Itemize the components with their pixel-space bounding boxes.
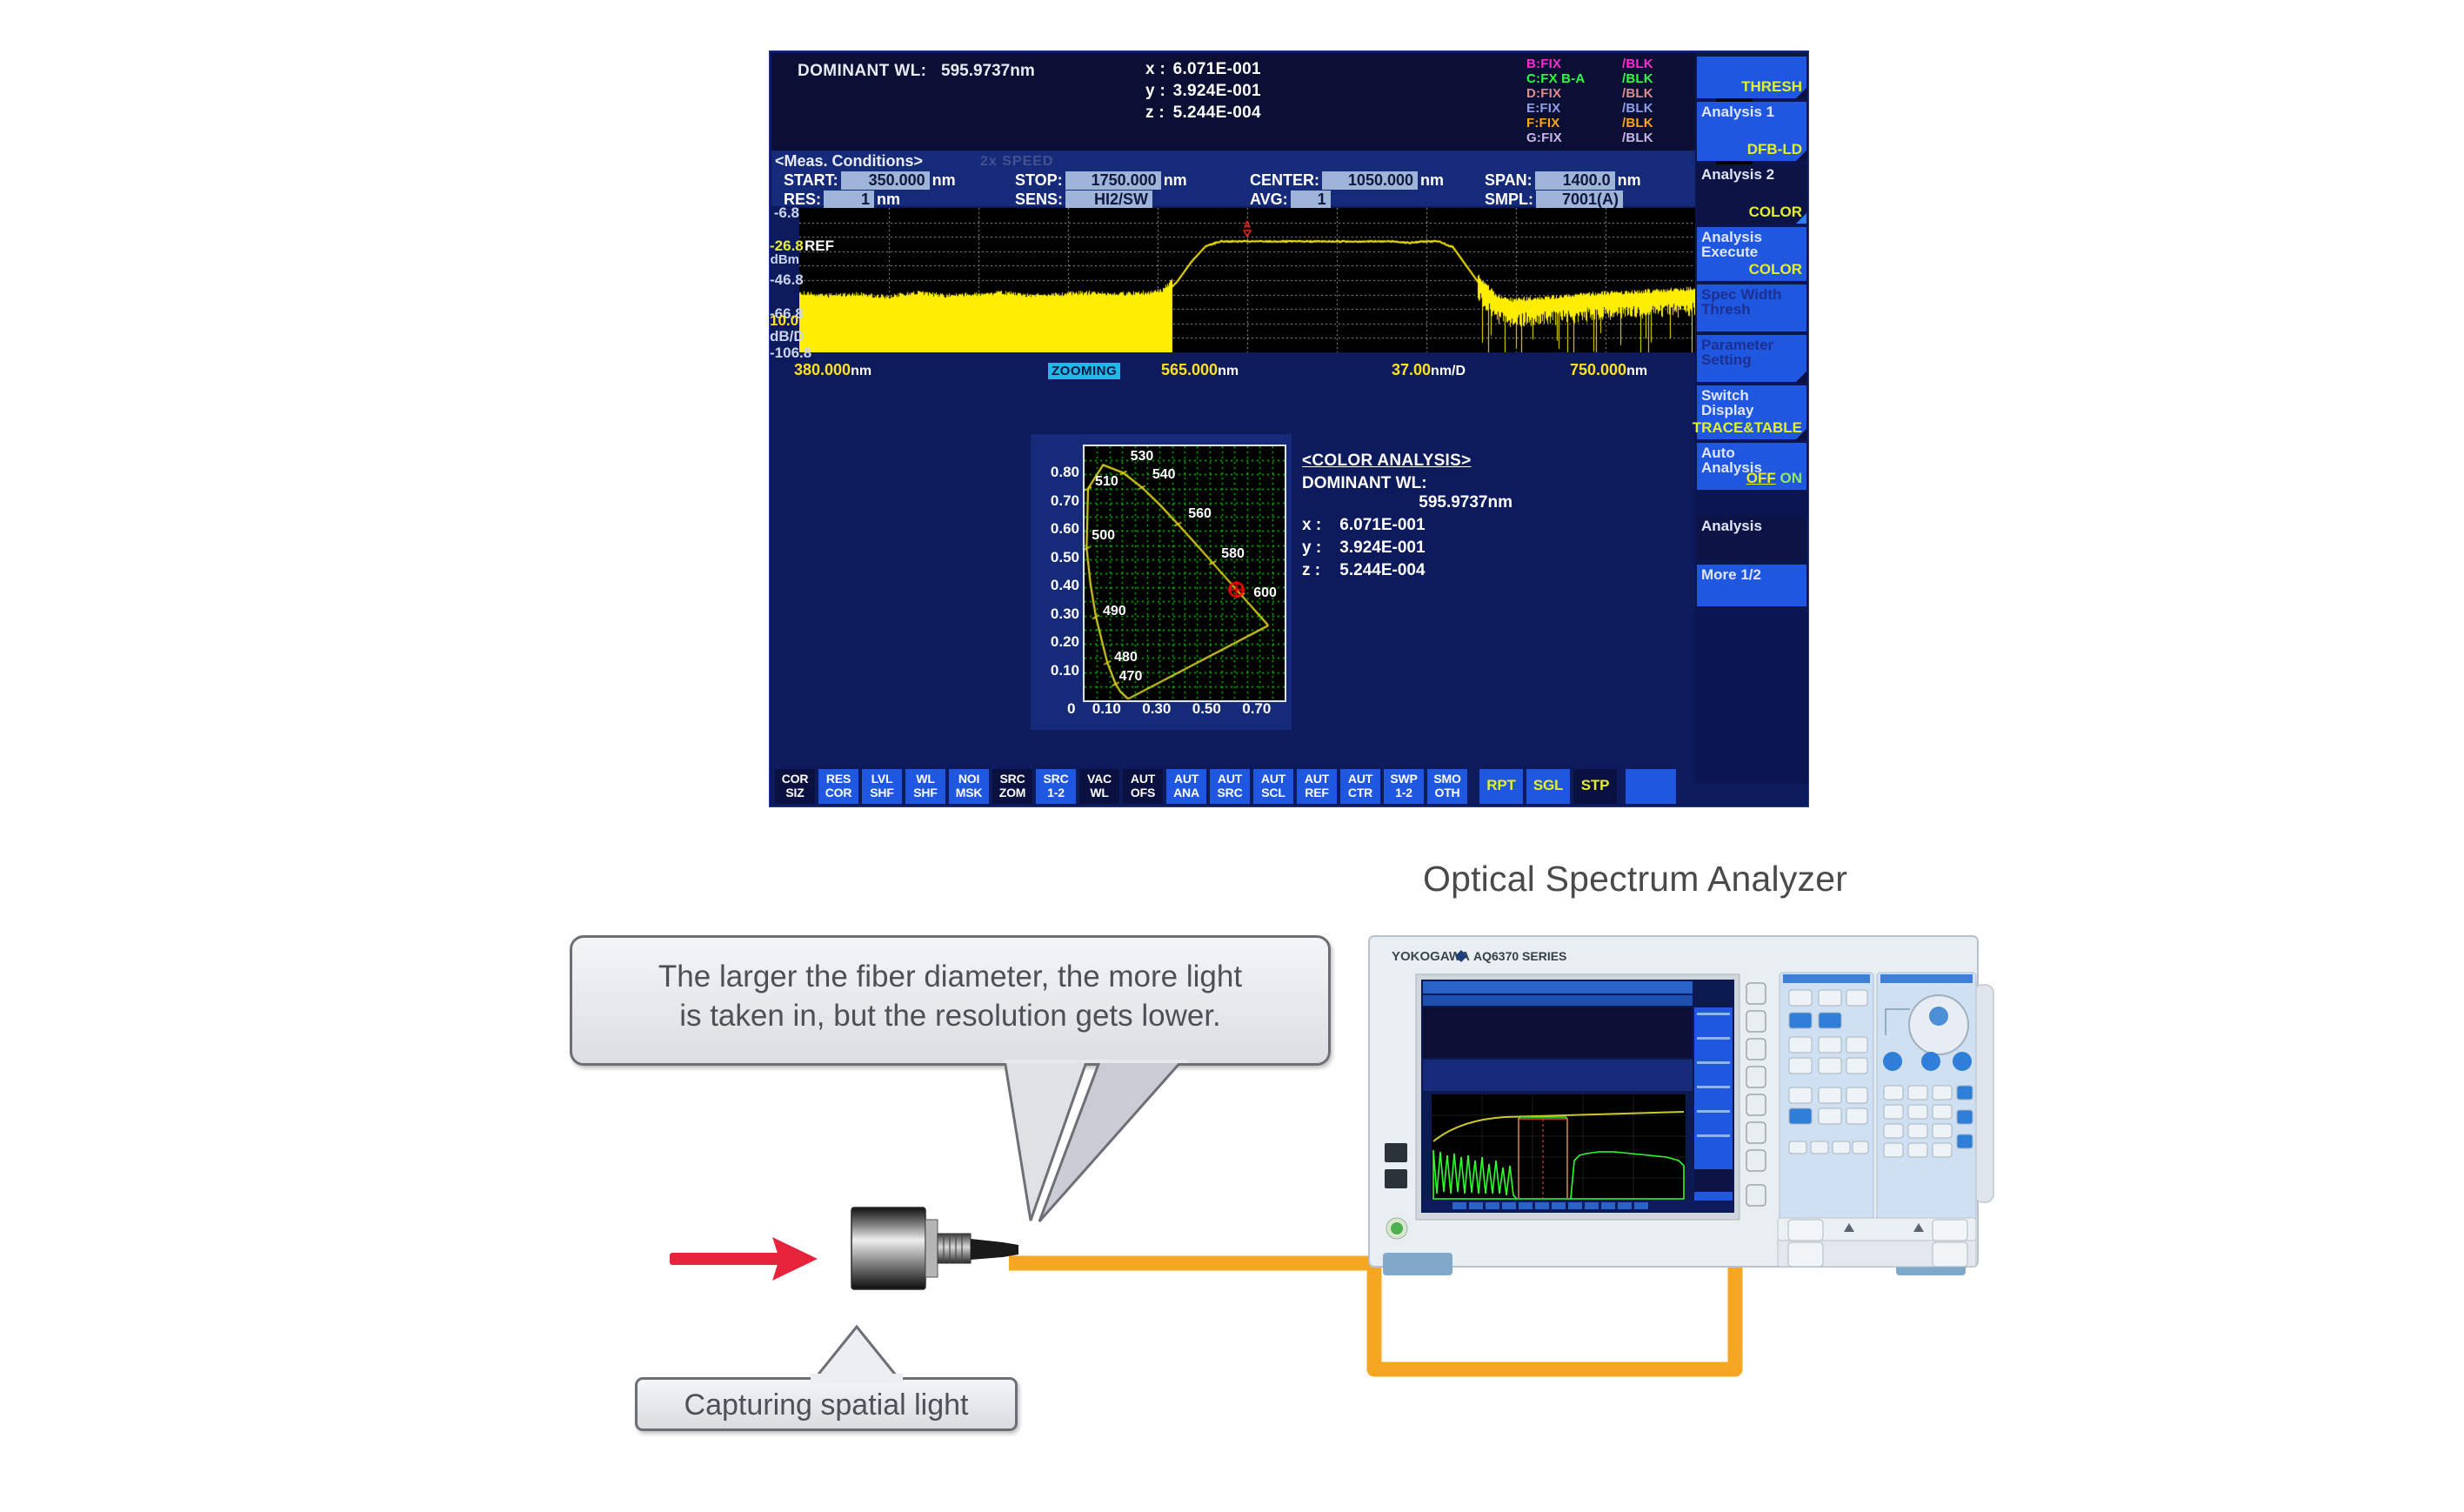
chromaticity-x-row: x : 6.071E-001 (1145, 60, 1261, 79)
callout-line-1: The larger the fiber diameter, the more … (572, 957, 1328, 996)
dominant-wl-value: 595.9737nm (941, 62, 1035, 81)
chromaticity-x-label: x : (1145, 60, 1168, 79)
cie-x-tick: 0.50 (1192, 700, 1221, 718)
status-key-aut-src[interactable]: AUTSRC (1210, 769, 1252, 804)
status-key-line-2: SIZ (775, 786, 815, 799)
softkey-1[interactable]: THRESH (1697, 57, 1806, 98)
status-key-line-1: SWP (1384, 773, 1424, 785)
status-key-aut-ref[interactable]: AUTREF (1297, 769, 1339, 804)
graph-x-unit: nm (851, 364, 871, 378)
cie-wavelength-label: 600 (1253, 585, 1277, 601)
chromaticity-y-row: y : 3.924E-001 (1145, 82, 1261, 101)
meas-field-value[interactable]: 1 (824, 191, 874, 209)
trace-legend-blank: /BLK (1622, 57, 1653, 71)
trace-legend-blank: /BLK (1622, 101, 1653, 116)
status-key-aut-ana[interactable]: AUTANA (1166, 769, 1208, 804)
status-key-line-1: WL (905, 773, 945, 785)
status-key-line-2: COR (818, 786, 858, 799)
status-key-line-2: SRC (1210, 786, 1250, 799)
status-key-cor-siz[interactable]: CORSIZ (775, 769, 817, 804)
ca-y-label: y : (1302, 539, 1335, 558)
status-key-line-1: STP (1573, 779, 1617, 792)
softkey-corner-icon (1796, 429, 1806, 439)
status-key-line-2: ANA (1166, 786, 1206, 799)
meas-field-unit: nm (1164, 171, 1187, 189)
softkey-label-line: Analysis (1701, 518, 1762, 533)
status-key-line-1: SRC (1036, 773, 1076, 785)
graph-x-label: 380.000nm (794, 361, 871, 379)
softkey-label: Analysis 2 (1701, 167, 1774, 182)
status-key-line-1: AUT (1166, 773, 1206, 785)
status-key-src-1-2[interactable]: SRC1-2 (1036, 769, 1078, 804)
ca-x-row: x : 6.071E-001 (1302, 516, 1528, 535)
softkey-label: Analysis (1701, 518, 1762, 533)
softkey-label-line: Thresh (1701, 302, 1781, 317)
status-bar-spacer (1626, 769, 1678, 804)
trace-legend-name: B:FIX (1526, 57, 1561, 71)
status-key-stp[interactable]: STP (1573, 769, 1619, 804)
callout-bubble: The larger the fiber diameter, the more … (570, 935, 1331, 1066)
cie-y-tick: 0.50 (1031, 549, 1079, 566)
softkey-menu[interactable]: THRESHAnalysis 1DFB-LDAnalysis 2COLORAna… (1695, 53, 1808, 784)
meas-field[interactable]: START:350.000nm (784, 171, 956, 190)
graph-x-unit: nm (1626, 364, 1647, 378)
status-key-line-1: LVL (862, 773, 902, 785)
softkey-corner-icon (1796, 213, 1806, 224)
softkey-label-line: Analysis 1 (1701, 104, 1774, 119)
softkey-label-line: Spec Width (1701, 287, 1781, 302)
meas-field-label: START: (784, 171, 838, 189)
softkey-label-line: Setting (1701, 352, 1773, 367)
ca-z-row: z : 5.244E-004 (1302, 561, 1528, 580)
cie-wavelength-label: 480 (1114, 650, 1138, 666)
graph-x-label: 750.000nm (1570, 361, 1647, 379)
instrument-model-text: AQ6370 SERIES (1473, 949, 1566, 963)
trace-legend-name: D:FIX (1526, 86, 1561, 101)
optical-spectrum-analyzer-photo: YOKOGAWA AQ6370 SERIES (1366, 933, 2009, 1281)
cie-wavelength-label: 470 (1119, 669, 1143, 685)
softkey-label: SwitchDisplay (1701, 388, 1753, 418)
page-title: Optical Spectrum Analyzer (1423, 859, 1980, 900)
softkey-6[interactable]: ParameterSetting (1697, 335, 1806, 382)
status-key-line-1: SRC (992, 773, 1032, 785)
graph-x-label: 37.00nm/D (1392, 361, 1466, 379)
status-key-line-2: SHF (905, 786, 945, 799)
cie-wavelength-label: 530 (1131, 449, 1154, 465)
measurement-conditions-panel: <Meas. Conditions> 2x SPEED START:350.00… (771, 151, 1695, 206)
cie-y-tick: 0.30 (1031, 605, 1079, 623)
meas-field[interactable]: STOP:1750.000nm (1015, 171, 1187, 190)
status-key-line-2: WL (1079, 786, 1119, 799)
capture-label: Capturing spatial light (635, 1377, 1018, 1431)
status-key-line-1: AUT (1340, 773, 1380, 785)
cie-x-tick: 0.70 (1242, 700, 1271, 718)
trace-legend-row: C:FX B-A/BLK (1526, 71, 1692, 84)
osa-screen: DOMINANT WL: 595.9737nm x : 6.071E-001 y… (769, 50, 1809, 807)
status-key-smo-oth[interactable]: SMOOTH (1427, 769, 1469, 804)
softkey-value: DFB-LD (1747, 141, 1802, 158)
softkey-value-on[interactable]: ON (1780, 470, 1803, 486)
meas-field-label: AVG: (1250, 191, 1288, 208)
status-key-src-zom[interactable]: SRCZOM (992, 769, 1034, 804)
status-key-line-1: AUT (1253, 773, 1293, 785)
meas-field-value[interactable]: 1050.000 (1322, 171, 1418, 190)
graph-x-unit: nm/D (1431, 364, 1466, 378)
meas-field[interactable]: SMPL:7001(A) (1485, 191, 1626, 209)
softkey-corner-icon (1796, 371, 1806, 382)
softkey-label: AnalysisExecute (1701, 230, 1762, 259)
meas-field-unit: nm (1618, 171, 1641, 189)
ca-dominant-wl-label: DOMINANT WL: (1302, 474, 1528, 493)
trace-legend-name: G:FIX (1526, 130, 1562, 145)
chromaticity-x-value: 6.071E-001 (1173, 60, 1261, 79)
status-key-line-1: NOI (949, 773, 989, 785)
softkey-5[interactable]: Spec WidthThresh (1697, 284, 1806, 331)
meas-field[interactable]: SPAN:1400.0nm (1485, 171, 1641, 190)
softkey-label-line: Execute (1701, 244, 1762, 259)
trace-legend-name: C:FX B-A (1526, 71, 1585, 86)
incoming-light-arrow (670, 1228, 844, 1289)
cie-wavelength-label: 510 (1095, 474, 1118, 490)
spectrum-canvas[interactable] (799, 208, 1695, 352)
status-key-aut-ofs[interactable]: AUTOFS (1123, 769, 1165, 804)
trace-legend-row: B:FIX/BLK (1526, 57, 1692, 70)
status-key-line-1: RES (818, 773, 858, 785)
softkey-label: Analysis 1 (1701, 104, 1774, 119)
graph-scale-unit: dB/D (770, 328, 805, 345)
softkey-value: TRACE&TABLE (1693, 419, 1802, 437)
softkey-label-line: Analysis (1701, 230, 1762, 244)
softkey-value: THRESH (1741, 78, 1802, 96)
chromaticity-z-row: z : 5.244E-004 (1145, 104, 1261, 123)
callout-line-2: is taken in, but the resolution gets low… (572, 996, 1328, 1035)
meas-field-label: SMPL: (1485, 191, 1533, 208)
meas-field[interactable]: CENTER:1050.000nm (1250, 171, 1444, 190)
status-key-line-1: AUT (1123, 773, 1163, 785)
cie-y-tick: 0.20 (1031, 633, 1079, 651)
trace-legend-row: F:FIX/BLK (1526, 116, 1692, 129)
graph-x-value: 565.000 (1161, 361, 1218, 378)
status-key-line-1: COR (775, 773, 815, 785)
cie-y-tick: 0.10 (1031, 662, 1079, 679)
graph-x-value: 37.00 (1392, 361, 1431, 378)
softkey-8[interactable]: AutoAnalysisOFF ON (1697, 443, 1806, 490)
meas-field[interactable]: SENS:HI2/SW (1015, 191, 1155, 209)
trace-legend-blank: /BLK (1622, 86, 1653, 101)
meas-field-value[interactable]: 1400.0 (1535, 171, 1615, 190)
status-key-noi-msk[interactable]: NOIMSK (949, 769, 991, 804)
status-key-line-2: CTR (1340, 786, 1380, 799)
softkey-3[interactable]: Analysis 2COLOR (1697, 164, 1806, 224)
spectrum-graph[interactable] (799, 208, 1695, 352)
cie-wavelength-label: 500 (1092, 528, 1115, 544)
color-analysis-title: <COLOR ANALYSIS> (1302, 452, 1528, 471)
zooming-flag: ZOOMING (1048, 363, 1120, 379)
softkey-value[interactable]: OFF ON (1746, 470, 1802, 487)
status-key-line-1: VAC (1079, 773, 1119, 785)
ca-x-value: 6.071E-001 (1339, 516, 1425, 534)
trace-legend-blank: /BLK (1622, 130, 1653, 145)
graph-y-tick: -6.8 (770, 204, 799, 222)
softkey-4[interactable]: AnalysisExecuteCOLOR (1697, 227, 1806, 281)
chromaticity-y-value: 3.924E-001 (1173, 82, 1261, 101)
softkey-label: More 1/2 (1701, 567, 1761, 582)
chromaticity-y-label: y : (1145, 82, 1168, 101)
trace-legend-row: D:FIX/BLK (1526, 86, 1692, 99)
meas-field-value[interactable]: 1 (1291, 191, 1331, 209)
softkey-label: Spec WidthThresh (1701, 287, 1781, 317)
softkey-label-line: Auto (1701, 445, 1762, 460)
softkey-label-line: Analysis 2 (1701, 167, 1774, 182)
cie-x-tick: 0.30 (1142, 700, 1171, 718)
color-analysis-readout: <COLOR ANALYSIS> DOMINANT WL: 595.9737nm… (1302, 452, 1528, 580)
status-key-res-cor[interactable]: RESCOR (818, 769, 860, 804)
callout-text: The larger the fiber diameter, the more … (572, 957, 1328, 1035)
status-key-wl-shf[interactable]: WLSHF (905, 769, 947, 804)
softkey-label: ParameterSetting (1701, 338, 1773, 367)
graph-scale-value: 10.0 (770, 312, 798, 330)
softkey-label-line: More 1/2 (1701, 567, 1761, 582)
capture-label-text: Capturing spatial light (638, 1388, 1015, 1422)
cie-wavelength-label: 540 (1152, 467, 1176, 483)
status-key-vac-wl[interactable]: VACWL (1079, 769, 1121, 804)
meas-field-unit: nm (1420, 171, 1444, 189)
meas-field[interactable]: AVG:1 (1250, 191, 1333, 209)
status-key-line-2: MSK (949, 786, 989, 799)
analysis-header-panel: DOMINANT WL: 595.9737nm x : 6.071E-001 y… (771, 53, 1695, 151)
graph-x-label: 565.000nm (1161, 361, 1239, 379)
status-key-line-2: ZOM (992, 786, 1032, 799)
cie-wavelength-label: 560 (1188, 506, 1212, 522)
softkey-label-line: Parameter (1701, 338, 1773, 352)
softkey-7[interactable]: SwitchDisplayTRACE&TABLE (1697, 385, 1806, 439)
status-bar[interactable]: CORSIZRESCORLVLSHFWLSHFNOIMSKSRCZOMSRC1-… (771, 769, 1695, 804)
status-key-line-2: REF (1297, 786, 1337, 799)
ca-z-value: 5.244E-004 (1339, 561, 1425, 579)
softkey-corner-icon (1796, 151, 1806, 161)
cie-wavelength-label: 490 (1103, 604, 1126, 619)
ca-z-label: z : (1302, 561, 1335, 580)
chromaticity-z-label: z : (1145, 104, 1168, 123)
cie-x-tick: 0 (1067, 700, 1075, 718)
trace-legend-row: G:FIX/BLK (1526, 130, 1692, 144)
meas-field-label: SENS: (1015, 191, 1063, 208)
graph-x-value: 750.000 (1570, 361, 1626, 378)
cie-y-tick: 0.80 (1031, 464, 1079, 481)
status-key-line-2: 1-2 (1036, 786, 1076, 799)
meas-field-unit: nm (877, 191, 900, 208)
softkey-2[interactable]: Analysis 1DFB-LD (1697, 102, 1806, 161)
trace-legend-blank: /BLK (1622, 71, 1653, 86)
chromaticity-z-value: 5.244E-004 (1173, 104, 1261, 123)
cie-wavelength-label: 580 (1221, 546, 1245, 562)
cie-y-tick: 0.70 (1031, 492, 1079, 510)
cie-y-tick: 0.40 (1031, 577, 1079, 594)
capture-label-tail (809, 1323, 905, 1384)
meas-field[interactable]: RES:1nm (784, 191, 900, 209)
meas-field-value[interactable]: 1750.000 (1065, 171, 1161, 190)
status-key-aut-scl[interactable]: AUTSCL (1253, 769, 1295, 804)
meas-field-label: STOP: (1015, 171, 1063, 189)
callout-tail (1005, 1060, 1213, 1225)
cie-y-tick: 0.60 (1031, 520, 1079, 538)
meas-field-value[interactable]: HI2/SW (1065, 191, 1152, 209)
status-key-swp-1-2[interactable]: SWP1-2 (1384, 769, 1426, 804)
status-key-line-2: OTH (1427, 786, 1467, 799)
status-key-line-1: SGL (1526, 779, 1570, 792)
status-key-lvl-shf[interactable]: LVLSHF (862, 769, 904, 804)
meas-field-label: CENTER: (1250, 171, 1319, 189)
graph-y-tick: -46.8 (770, 271, 799, 289)
graph-ref-label: REF (805, 238, 834, 255)
cie-x-tick: 0.10 (1092, 700, 1121, 718)
status-key-aut-ctr[interactable]: AUTCTR (1340, 769, 1382, 804)
status-key-line-1: AUT (1210, 773, 1250, 785)
trace-legend-name: F:FIX (1526, 116, 1560, 130)
softkey-value: COLOR (1749, 261, 1802, 278)
ca-y-row: y : 3.924E-001 (1302, 539, 1528, 558)
softkey-10[interactable]: More 1/2 (1697, 565, 1806, 606)
graph-x-unit: nm (1218, 364, 1239, 378)
status-key-line-2: OFS (1123, 786, 1163, 799)
meas-field-value[interactable]: 7001(A) (1536, 191, 1623, 209)
status-key-line-1: AUT (1297, 773, 1337, 785)
graph-y-unit: dBm (770, 252, 799, 267)
ca-dominant-wl-value: 595.9737nm (1302, 493, 1528, 512)
trace-legend: B:FIX/BLKC:FX B-A/BLKD:FIX/BLKE:FIX/BLKF… (1519, 53, 1693, 151)
softkey-label-line: Display (1701, 403, 1753, 418)
softkey-9[interactable]: Analysis (1697, 516, 1806, 561)
status-key-line-1: SMO (1427, 773, 1467, 785)
ca-x-label: x : (1302, 516, 1335, 535)
chromaticity-diagram[interactable]: 0.800.700.600.500.400.300.200.1000.100.3… (1031, 434, 1292, 730)
trace-legend-blank: /BLK (1622, 116, 1653, 130)
softkey-value-off[interactable]: OFF (1746, 470, 1776, 486)
status-key-line-2: 1-2 (1384, 786, 1424, 799)
softkey-label-line: Switch (1701, 388, 1753, 403)
trace-legend-row: E:FIX/BLK (1526, 101, 1692, 114)
trace-legend-name: E:FIX (1526, 101, 1560, 116)
status-key-line-1: RPT (1479, 779, 1523, 792)
meas-field-label: SPAN: (1485, 171, 1532, 189)
status-key-line-2: SCL (1253, 786, 1293, 799)
speed-flag: 2x SPEED (980, 154, 1053, 170)
softkey-corner-icon (1796, 88, 1806, 98)
status-key-rpt[interactable]: RPT (1479, 769, 1525, 804)
ca-y-value: 3.924E-001 (1339, 539, 1425, 557)
softkey-value: COLOR (1749, 204, 1802, 221)
meas-field-unit: nm (932, 171, 956, 189)
meas-field-value[interactable]: 350.000 (841, 171, 930, 190)
status-key-line-2: SHF (862, 786, 902, 799)
graph-x-value: 380.000 (794, 361, 851, 378)
status-key-sgl[interactable]: SGL (1526, 769, 1572, 804)
graph-y-tick: -106.8 (770, 345, 799, 362)
meas-conditions-title: <Meas. Conditions> (775, 152, 923, 171)
dominant-wl-label: DOMINANT WL: (798, 62, 926, 81)
